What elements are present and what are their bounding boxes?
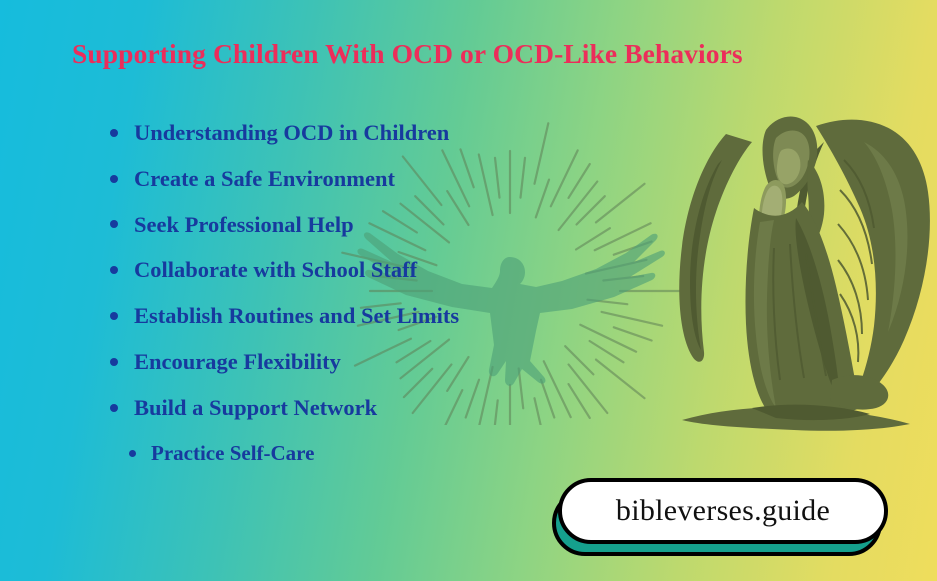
page-title: Supporting Children With OCD or OCD-Like… bbox=[72, 38, 743, 70]
bullet-icon bbox=[110, 404, 118, 412]
list-item-label: Practice Self-Care bbox=[151, 441, 314, 465]
bullet-icon bbox=[110, 220, 118, 228]
list-item: Establish Routines and Set Limits bbox=[104, 293, 624, 339]
list-item: Practice Self-Care bbox=[104, 431, 624, 477]
list-item: Encourage Flexibility bbox=[104, 339, 624, 385]
list-item-label: Create a Safe Environment bbox=[134, 166, 395, 191]
badge-pill[interactable]: bibleverses.guide bbox=[558, 478, 888, 544]
list-item: Understanding OCD in Children bbox=[104, 110, 624, 156]
list-item-label: Establish Routines and Set Limits bbox=[134, 303, 459, 328]
list-item: Seek Professional Help bbox=[104, 202, 624, 248]
list-item-label: Encourage Flexibility bbox=[134, 349, 341, 374]
bullet-icon bbox=[110, 266, 118, 274]
list-item-label: Understanding OCD in Children bbox=[134, 120, 449, 145]
bullet-icon bbox=[110, 312, 118, 320]
list-item-label: Seek Professional Help bbox=[134, 212, 354, 237]
list-item-label: Collaborate with School Staff bbox=[134, 257, 417, 282]
infographic-canvas: Supporting Children With OCD or OCD-Like… bbox=[0, 0, 937, 581]
list-item: Create a Safe Environment bbox=[104, 156, 624, 202]
bullet-icon bbox=[129, 450, 136, 457]
praying-angel-icon bbox=[648, 68, 937, 440]
topic-list: Understanding OCD in Children Create a S… bbox=[104, 110, 624, 476]
list-item: Collaborate with School Staff bbox=[104, 247, 624, 293]
bullet-icon bbox=[110, 129, 118, 137]
bullet-icon bbox=[110, 175, 118, 183]
badge-label: bibleverses.guide bbox=[616, 494, 830, 528]
list-item: Build a Support Network bbox=[104, 385, 624, 431]
bullet-icon bbox=[110, 358, 118, 366]
list-item-label: Build a Support Network bbox=[134, 395, 377, 420]
brand-badge[interactable]: bibleverses.guide bbox=[552, 478, 890, 560]
